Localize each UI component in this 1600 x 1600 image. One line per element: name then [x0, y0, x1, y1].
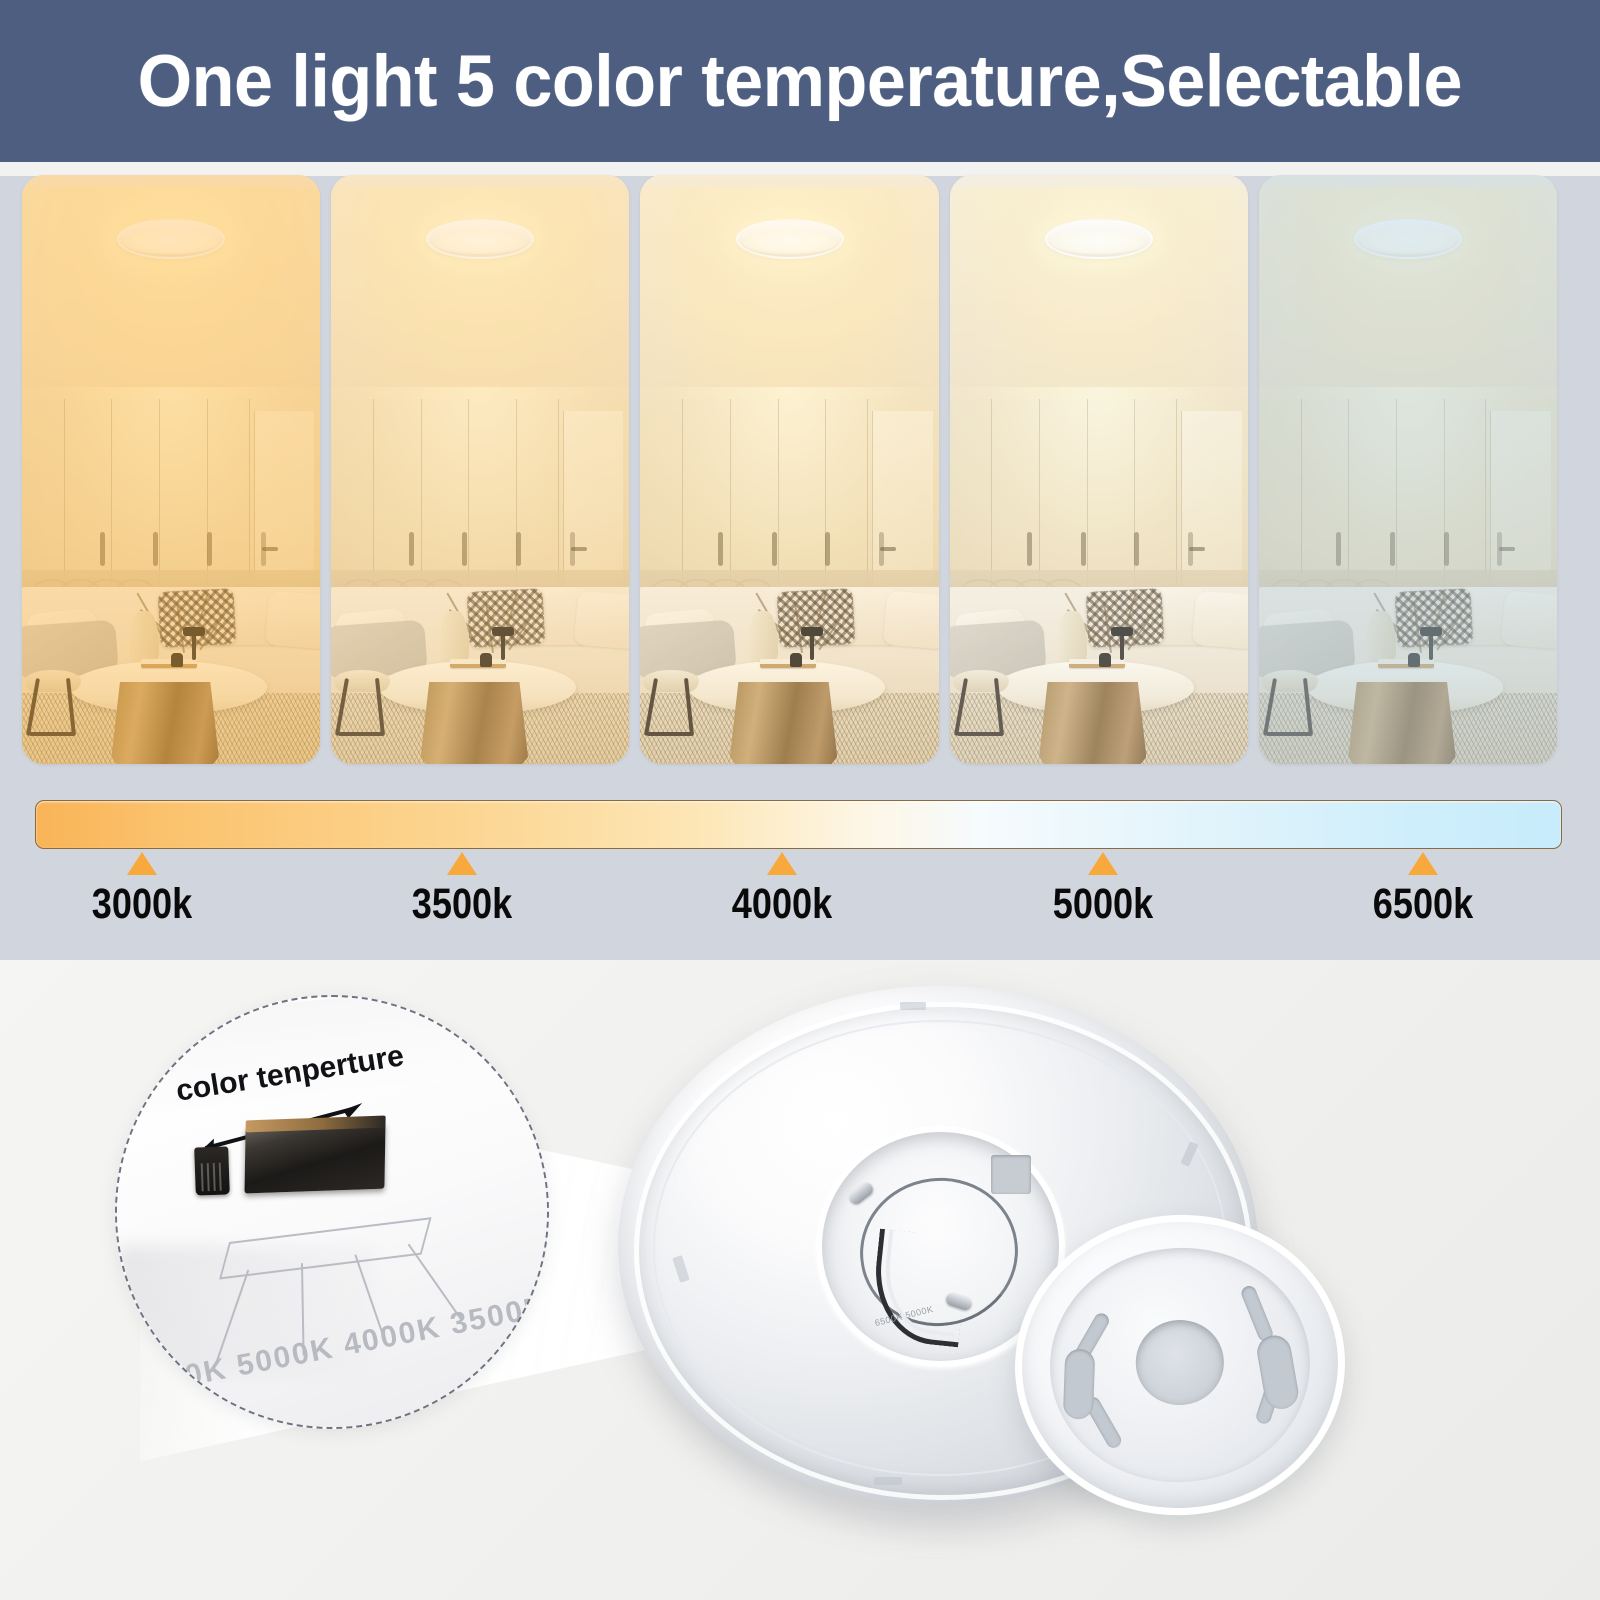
table-knob-object	[1408, 653, 1420, 667]
ceiling-lamp	[1354, 219, 1462, 259]
ceiling-lamp	[1045, 219, 1153, 259]
cushion-far-right	[573, 591, 629, 650]
temperature-marker-3500k[interactable]	[447, 852, 477, 875]
temperature-label-3000k: 3000k	[92, 880, 192, 929]
cavity-notch	[991, 1155, 1031, 1194]
table-knob-object	[171, 653, 183, 667]
room-preview-3000k[interactable]	[22, 175, 320, 764]
bracket-center-hole	[1133, 1317, 1227, 1407]
temperature-marker-3000k[interactable]	[127, 852, 157, 875]
cushion-far-right	[1501, 591, 1557, 650]
table-lamp	[810, 634, 814, 660]
room-scene	[950, 175, 1248, 764]
table-lamp	[501, 634, 505, 660]
ceiling-lamp	[736, 219, 844, 259]
detail-magnifier: color tenperture 500K 500	[115, 995, 549, 1429]
wire-clip-upper	[847, 1181, 875, 1207]
coffee-table-base	[111, 682, 218, 764]
bracket-large-cutout-left	[1063, 1348, 1095, 1419]
fixture-vent-bottom	[874, 1477, 902, 1485]
header-banner: One light 5 color temperature,Selectable	[0, 0, 1600, 162]
accent-chair	[334, 670, 390, 764]
dip-switch-body	[244, 1123, 385, 1194]
bracket-inner-face	[1043, 1239, 1318, 1491]
table-lamp	[1429, 634, 1433, 660]
cushion-far-right	[1192, 591, 1248, 650]
accent-chair	[25, 670, 81, 764]
section-top-spacer	[0, 162, 1600, 176]
table-knob-object	[480, 653, 492, 667]
product-detail-section: 6500K 5000K col	[0, 960, 1600, 1600]
page-title: One light 5 color temperature,Selectable	[138, 40, 1462, 123]
table-lamp	[1120, 634, 1124, 660]
books-on-table	[141, 659, 197, 668]
bracket-slot-2	[1239, 1284, 1275, 1343]
dip-switch-lever	[194, 1146, 230, 1195]
room-scene	[640, 175, 938, 764]
room-preview-strip	[22, 175, 1557, 764]
temperature-label-3500k: 3500k	[412, 880, 512, 929]
coffee-table-base	[1348, 682, 1455, 764]
coffee-table-base	[421, 682, 528, 764]
books-on-table	[450, 659, 506, 668]
temperature-gradient-bar[interactable]	[35, 800, 1562, 849]
table-knob-object	[790, 653, 802, 667]
mounting-bracket	[1005, 1204, 1355, 1526]
bracket-disc	[1005, 1204, 1355, 1526]
ceiling-lamp	[117, 219, 225, 259]
cushion-far-right	[883, 591, 939, 650]
room-preview-3500k[interactable]	[331, 175, 629, 764]
accent-chair	[953, 670, 1009, 764]
room-scene	[331, 175, 629, 764]
temperature-label-6500k: 6500k	[1373, 880, 1473, 929]
fixture-vent-top	[900, 1002, 926, 1010]
product-infographic: One light 5 color temperature,Selectable…	[0, 0, 1600, 1600]
books-on-table	[1378, 659, 1434, 668]
table-lamp	[192, 634, 196, 660]
temperature-markers	[0, 852, 1600, 882]
room-preview-4000k[interactable]	[640, 175, 938, 764]
temperature-marker-4000k[interactable]	[767, 852, 797, 875]
books-on-table	[760, 659, 816, 668]
room-preview-6500k[interactable]	[1259, 175, 1557, 764]
coffee-table-base	[1039, 682, 1146, 764]
temperature-labels: 3000k3500k4000k5000k6500k	[0, 880, 1600, 936]
temperature-label-4000k: 4000k	[732, 880, 832, 929]
temperature-label-5000k: 5000k	[1052, 880, 1152, 929]
accent-chair	[643, 670, 699, 764]
ceiling-lamp	[426, 219, 534, 259]
room-preview-5000k[interactable]	[950, 175, 1248, 764]
coffee-table-base	[730, 682, 837, 764]
books-on-table	[1069, 659, 1125, 668]
temperature-marker-5000k[interactable]	[1088, 852, 1118, 875]
temperature-marker-6500k[interactable]	[1408, 852, 1438, 875]
cushion-far-right	[264, 591, 320, 650]
room-scene	[22, 175, 320, 764]
room-scene	[1259, 175, 1557, 764]
accent-chair	[1262, 670, 1318, 764]
table-knob-object	[1099, 653, 1111, 667]
